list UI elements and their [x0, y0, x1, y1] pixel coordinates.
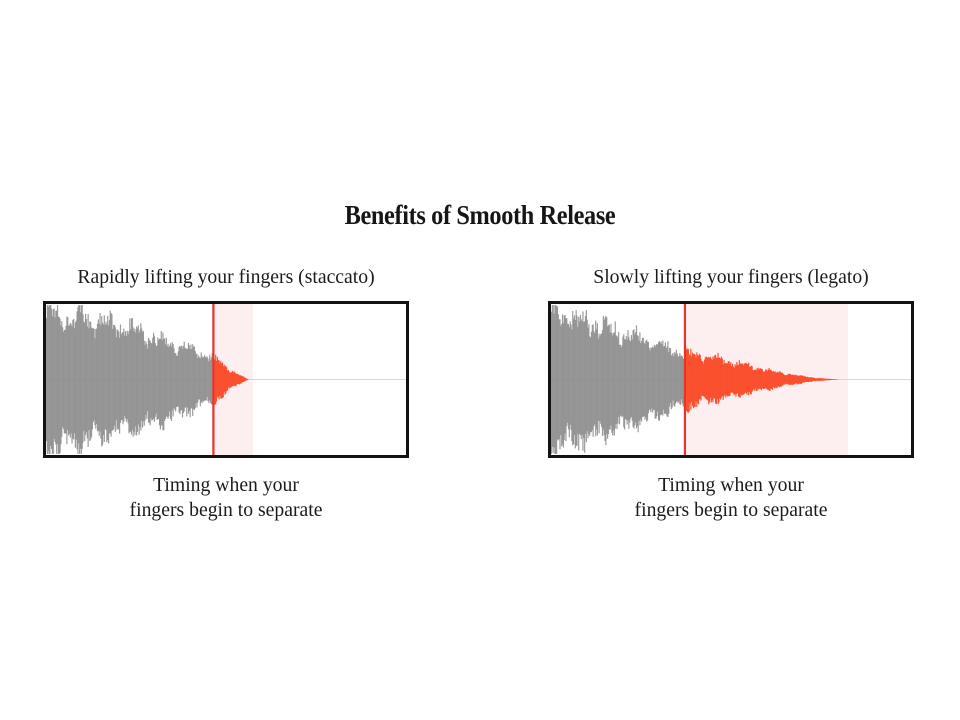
panel-caption-staccato: Timing when your fingers begin to separa…: [47, 473, 404, 523]
waveform-box-legato: [548, 301, 914, 458]
panel-heading-staccato: Rapidly lifting your fingers (staccato): [47, 264, 404, 290]
waveform-chart-staccato: [46, 304, 406, 455]
slide-canvas: Benefits of Smooth Release Rapidly lifti…: [0, 0, 960, 720]
waveform-chart-legato: [551, 304, 911, 455]
waveform-box-staccato: [43, 301, 409, 458]
panel-heading-legato: Slowly lifting your fingers (legato): [552, 264, 909, 290]
panel-staccato: Rapidly lifting your fingers (staccato) …: [40, 264, 412, 523]
panel-legato: Slowly lifting your fingers (legato) Tim…: [545, 264, 917, 523]
page-title: Benefits of Smooth Release: [48, 200, 912, 231]
panel-caption-legato: Timing when your fingers begin to separa…: [552, 473, 909, 523]
